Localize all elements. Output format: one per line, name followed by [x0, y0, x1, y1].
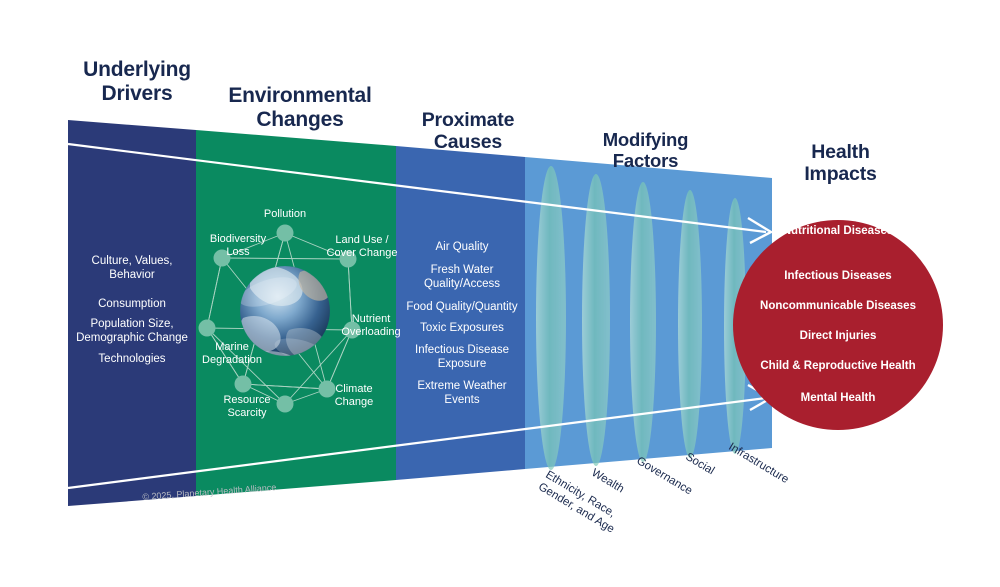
heading-underlying-drivers: Underlying Drivers — [62, 58, 212, 105]
driver-item-population-line1: Population Size, — [58, 317, 206, 331]
proximate-item-weather-line2: Events — [398, 393, 526, 407]
proximate-item-extreme-weather-events: Extreme Weather Events — [398, 379, 526, 408]
impact-noncommunicable-diseases: Noncommunicable Diseases — [733, 300, 943, 312]
heading-proximate-causes-line1: Proximate — [398, 110, 538, 132]
heading-environmental-changes-line2: Changes — [205, 108, 395, 132]
heading-health-impacts-line2: Impacts — [768, 164, 913, 186]
heading-health-impacts-line1: Health — [768, 142, 913, 164]
env-label-biodiversity-line1: Biodiversity — [192, 233, 284, 246]
impact-direct-injuries: Direct Injuries — [733, 330, 943, 342]
proximate-item-water-line2: Quality/Access — [398, 277, 526, 291]
env-label-resource-line1: Resource — [205, 394, 289, 407]
proximate-item-infect-line1: Infectious Disease — [396, 343, 528, 357]
proximate-item-air-quality: Air Quality — [398, 240, 526, 254]
env-label-resource-line2: Scarcity — [205, 407, 289, 420]
proximate-item-water-line1: Fresh Water — [398, 263, 526, 277]
heading-proximate-causes: Proximate Causes — [398, 110, 538, 154]
lens-social — [678, 190, 702, 458]
proximate-item-weather-line1: Extreme Weather — [398, 379, 526, 393]
band-underlying-drivers — [68, 120, 196, 506]
env-label-climate-change: Climate Change — [318, 383, 390, 409]
heading-underlying-drivers-line2: Drivers — [62, 82, 212, 106]
env-label-land-use-cover-change: Land Use / Cover Change — [312, 234, 412, 260]
env-label-marine-line2: Degradation — [186, 354, 278, 367]
proximate-item-fresh-water: Fresh Water Quality/Access — [398, 263, 526, 292]
impact-child-reproductive-health: Child & Reproductive Health — [733, 360, 943, 372]
proximate-item-infectious-disease-exposure: Infectious Disease Exposure — [396, 343, 528, 372]
proximate-item-infect-line2: Exposure — [396, 357, 528, 371]
driver-item-culture-line2: Behavior — [62, 268, 202, 282]
env-label-biodiversity-loss: Biodiversity Loss — [192, 233, 284, 259]
node-resource-scarcity — [235, 376, 252, 393]
proximate-item-food-quality: Food Quality/Quantity — [396, 300, 528, 314]
env-label-marine-degradation: Marine Degradation — [186, 341, 278, 367]
lens-governance — [630, 182, 656, 462]
impact-mental-health: Mental Health — [733, 392, 943, 404]
env-label-landuse-line2: Cover Change — [312, 247, 412, 260]
env-label-biodiversity-line2: Loss — [192, 246, 284, 259]
heading-modifying-factors: Modifying Factors — [578, 130, 713, 171]
heading-modifying-factors-line1: Modifying — [578, 130, 713, 151]
driver-item-culture-line1: Culture, Values, — [62, 254, 202, 268]
env-label-climate-line1: Climate — [318, 383, 390, 396]
heading-environmental-changes: Environmental Changes — [205, 84, 395, 131]
driver-item-technologies: Technologies — [62, 352, 202, 366]
driver-item-population-line2: Demographic Change — [58, 331, 206, 345]
driver-item-culture-values-behavior: Culture, Values, Behavior — [62, 254, 202, 283]
impact-infectious-diseases: Infectious Diseases — [733, 270, 943, 282]
heading-environmental-changes-line1: Environmental — [205, 84, 395, 108]
heading-underlying-drivers-line1: Underlying — [62, 58, 212, 82]
env-label-resource-scarcity: Resource Scarcity — [205, 394, 289, 420]
heading-health-impacts: Health Impacts — [768, 142, 913, 186]
driver-item-population-size: Population Size, Demographic Change — [58, 317, 206, 346]
heading-modifying-factors-line2: Factors — [578, 151, 713, 172]
heading-proximate-causes-line2: Causes — [398, 132, 538, 154]
env-label-pollution: Pollution — [245, 208, 325, 221]
env-label-climate-line2: Change — [318, 396, 390, 409]
planetary-health-diagram: Underlying Drivers Environmental Changes… — [0, 0, 1000, 587]
env-label-landuse-line1: Land Use / — [312, 234, 412, 247]
driver-item-consumption: Consumption — [62, 297, 202, 311]
impact-nutritional-diseases: Nutritional Diseases — [733, 225, 943, 237]
proximate-item-toxic-exposures: Toxic Exposures — [398, 321, 526, 335]
env-label-marine-line1: Marine — [186, 341, 278, 354]
